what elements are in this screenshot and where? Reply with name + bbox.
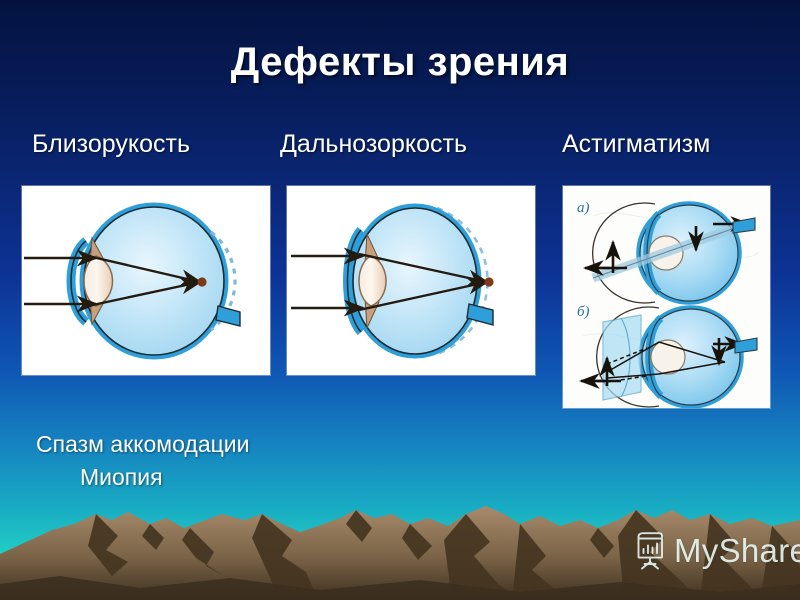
flipchart-icon: [631, 531, 667, 571]
page-title: Дефекты зрения: [0, 40, 800, 85]
myshared-watermark: MyShared: [631, 531, 800, 571]
astig-sublabel-a: а): [577, 200, 590, 216]
slide-root: Дефекты зрения Близорукость Дальнозоркос…: [0, 0, 800, 600]
diagram-panel-astigmatism: а): [563, 186, 770, 408]
astig-sublabel-b: б): [577, 304, 590, 320]
heading-myopia: Близорукость: [32, 130, 190, 159]
caption-line-1: Спазм аккомодации: [36, 431, 250, 457]
heading-astigmatism: Астигматизм: [562, 130, 710, 159]
heading-hyperopia: Дальнозоркость: [280, 130, 467, 159]
focal-point-myopia: [197, 277, 206, 286]
focal-point-hyperopia: [484, 277, 493, 286]
diagram-panel-myopia: [22, 186, 270, 375]
watermark-text: MyShared: [674, 532, 800, 570]
diagram-panel-hyperopia: [287, 186, 535, 375]
column-headings: Близорукость Дальнозоркость Астигматизм: [0, 130, 800, 164]
